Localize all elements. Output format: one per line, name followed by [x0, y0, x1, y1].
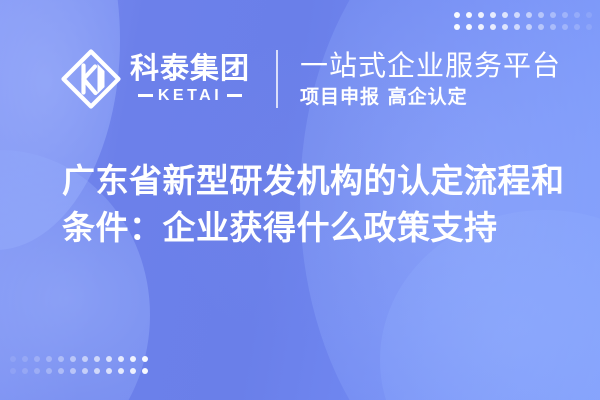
decor-dot [538, 12, 544, 18]
decor-dot [142, 356, 148, 362]
decor-dot [574, 12, 580, 18]
ketai-diamond-logo-icon [60, 48, 122, 110]
company-name-en-row: KETAI [138, 87, 242, 105]
decor-dot [514, 24, 520, 30]
wordmark-rule-left [138, 94, 153, 97]
decor-dot [454, 24, 460, 30]
decor-dot [46, 368, 52, 374]
decor-dot [502, 24, 508, 30]
decor-dot [106, 368, 112, 374]
decor-dot [142, 368, 148, 374]
tagline-secondary: 项目申报 高企认定 [300, 86, 561, 110]
decor-dot [550, 12, 556, 18]
decor-dot [526, 12, 532, 18]
decor-dot [454, 12, 460, 18]
decor-dot [82, 368, 88, 374]
dot-grid-bottom-left [10, 356, 148, 374]
decor-dot [574, 24, 580, 30]
decor-dot [466, 24, 472, 30]
decor-dot [10, 368, 16, 374]
decor-dot [562, 24, 568, 30]
decor-dot [58, 356, 64, 362]
decor-dot [94, 356, 100, 362]
decor-dot [514, 12, 520, 18]
decor-dot [118, 368, 124, 374]
decor-dot [586, 24, 592, 30]
page-title: 广东省新型研发机构的认定流程和 条件：企业获得什么政策支持 [62, 158, 562, 252]
decor-dot [46, 356, 52, 362]
decor-dot [478, 24, 484, 30]
decor-dot [538, 24, 544, 30]
decor-dot [562, 12, 568, 18]
decor-dot [70, 356, 76, 362]
page-title-line-1: 广东省新型研发机构的认定流程和 [62, 158, 562, 205]
decor-dot [82, 356, 88, 362]
decor-dot [22, 356, 28, 362]
dot-row [10, 368, 148, 374]
decor-dot [490, 12, 496, 18]
banner-header: 科泰集团 KETAI 一站式企业服务平台 项目申报 高企认定 [60, 42, 561, 116]
decor-dot [70, 368, 76, 374]
dot-row [454, 12, 592, 18]
brand-wordmark: 科泰集团 KETAI [130, 53, 250, 104]
decor-dot [34, 356, 40, 362]
decor-dot [478, 12, 484, 18]
decor-dot [34, 368, 40, 374]
dot-row [10, 356, 148, 362]
promo-banner: 科泰集团 KETAI 一站式企业服务平台 项目申报 高企认定 广东省新型研发机构… [0, 0, 600, 400]
decor-dot [550, 24, 556, 30]
decor-dot [586, 12, 592, 18]
wordmark-rule-right [227, 94, 242, 97]
page-title-line-2: 条件：企业获得什么政策支持 [62, 205, 562, 252]
decor-dot [466, 12, 472, 18]
decor-dot [58, 368, 64, 374]
company-name-en: KETAI [158, 87, 222, 105]
company-name-cn: 科泰集团 [130, 53, 250, 83]
brand-logo[interactable]: 科泰集团 KETAI [60, 48, 250, 110]
decor-dot [526, 24, 532, 30]
decor-dot [118, 356, 124, 362]
decor-dot [94, 368, 100, 374]
header-divider [276, 50, 278, 108]
tagline-primary: 一站式企业服务平台 [300, 49, 561, 82]
decor-dot [106, 356, 112, 362]
decor-dot [502, 12, 508, 18]
decor-dot [130, 356, 136, 362]
decor-dot [22, 368, 28, 374]
decor-dot [490, 24, 496, 30]
dot-row [454, 24, 592, 30]
decor-dot [10, 356, 16, 362]
dot-grid-top-right [454, 12, 592, 30]
decor-dot [130, 368, 136, 374]
tagline-block: 一站式企业服务平台 项目申报 高企认定 [300, 49, 561, 110]
